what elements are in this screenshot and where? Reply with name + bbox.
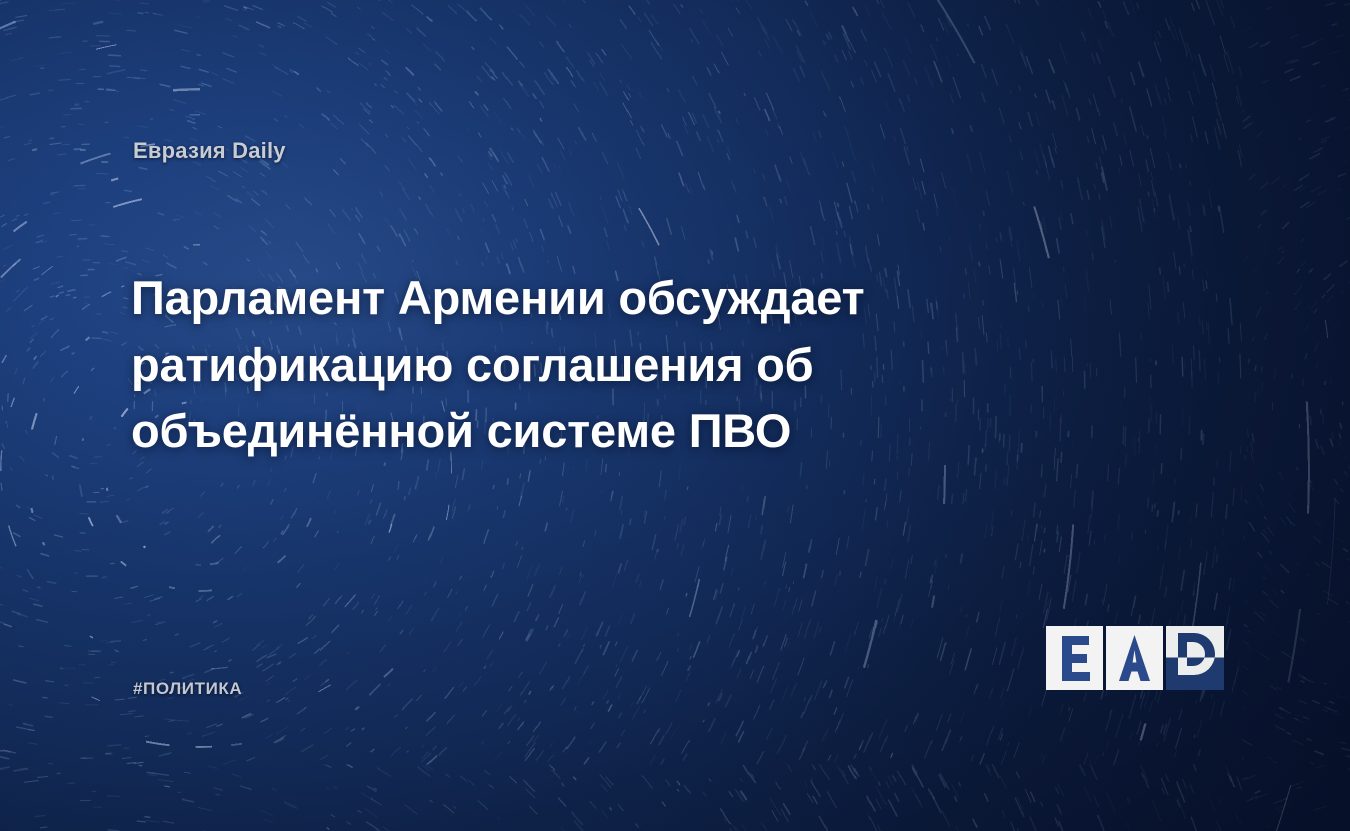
logo-tile-e	[1046, 626, 1103, 690]
logo-letter-e-icon	[1046, 626, 1103, 690]
eadaily-logo[interactable]	[1046, 626, 1224, 690]
page-title: Парламент Армении обсуждает ратификацию …	[131, 265, 1031, 465]
logo-tile-a	[1106, 626, 1163, 690]
logo-letter-a-icon	[1106, 626, 1163, 690]
social-share-card: Евразия Daily Парламент Армении обсуждае…	[0, 0, 1350, 831]
page-title-text: Парламент Армении обсуждает ратификацию …	[131, 271, 864, 457]
logo-letter-d-icon	[1166, 626, 1224, 690]
logo-tile-d	[1166, 626, 1224, 690]
category-tag[interactable]: #ПОЛИТИКА	[133, 679, 242, 699]
brand-name: Евразия Daily	[133, 138, 286, 164]
